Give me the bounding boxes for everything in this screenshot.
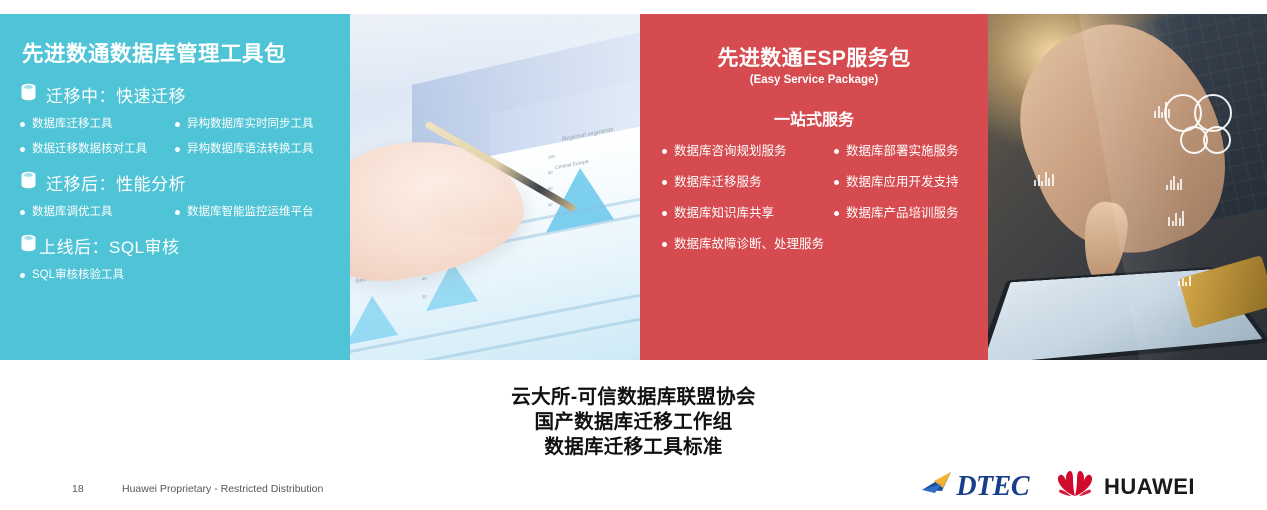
dtec-wordmark: DTEC [956, 471, 1029, 503]
esp-panel-kicker: 一站式服务 [654, 106, 974, 130]
esp-panel-title: 先进数通ESP服务包 [654, 42, 974, 72]
list-item: 数据库迁移工具 [20, 117, 175, 131]
list-item-label: 数据库咨询规划服务 [674, 144, 787, 158]
photo-hud-barchart [1168, 206, 1184, 226]
list-item: 数据库部署实施服务 [834, 144, 974, 158]
bullet-dot [834, 149, 839, 154]
list-item-label: 数据库智能监控运维平台 [187, 205, 314, 219]
toolkit-list-migrating: 数据库迁移工具 异构数据库实时同步工具 数据迁移数据核对工具 异构数据库语法转换… [20, 117, 340, 156]
list-item: 数据库迁移服务 [662, 175, 834, 189]
bullet-dot [175, 147, 180, 152]
list-item: 数据库调优工具 [20, 205, 175, 219]
list-item: 异构数据库语法转换工具 [175, 142, 340, 156]
banner-strip: 先进数通数据库管理工具包 迁移中：快速迁移 数据库迁移工具 异构数据库实时同步工… [0, 14, 1267, 360]
section-heading-migrating-label: 迁移中：快速迁移 [46, 82, 186, 107]
toolkit-panel: 先进数通数据库管理工具包 迁移中：快速迁移 数据库迁移工具 异构数据库实时同步工… [0, 14, 350, 360]
dtec-logo: DTEC [921, 471, 1029, 503]
toolkit-list-after-golive: SQL审核核验工具 [20, 268, 340, 282]
list-item: 数据库智能监控运维平台 [175, 205, 340, 219]
bullet-dot [662, 149, 667, 154]
huawei-logo: HUAWEI [1055, 470, 1195, 503]
list-item: 异构数据库实时同步工具 [175, 117, 340, 131]
list-item-label: 数据库应用开发支持 [846, 175, 959, 189]
photo-hand-writing-charts: Regional segments Central Europe East Eu… [350, 14, 640, 360]
confidentiality-note: Huawei Proprietary - Restricted Distribu… [122, 483, 323, 495]
section-heading-after-migration: 迁移后：性能分析 [20, 170, 340, 195]
toolkit-list-after-migration: 数据库调优工具 数据库智能监控运维平台 [20, 205, 340, 219]
section-heading-after-migration-label: 迁移后：性能分析 [46, 170, 186, 195]
list-item-label: 数据库部署实施服务 [846, 144, 959, 158]
dtec-mark-icon [921, 471, 955, 502]
list-item-label: 异构数据库实时同步工具 [187, 117, 314, 131]
bullet-dot [662, 242, 667, 247]
database-icon [20, 83, 37, 107]
caption-line-1: 云大所-可信数据库联盟协会 [0, 385, 1267, 410]
photo-axis-tick: 20 [422, 294, 426, 300]
list-item: 数据库故障诊断、处理服务 [662, 237, 974, 251]
database-icon [20, 171, 37, 195]
list-item: SQL审核核验工具 [20, 268, 340, 282]
bullet-dot [20, 210, 25, 215]
list-item-label: 数据库迁移服务 [674, 175, 762, 189]
bullet-dot [662, 180, 667, 185]
bullet-dot [175, 122, 180, 127]
esp-panel: 先进数通ESP服务包 (Easy Service Package) 一站式服务 … [640, 14, 988, 360]
list-item: 数据库应用开发支持 [834, 175, 974, 189]
list-item-label: 数据库迁移工具 [32, 117, 113, 131]
list-item-label: 数据库调优工具 [32, 205, 113, 219]
huawei-flower-icon [1055, 470, 1095, 503]
footer-logos: DTEC HUAWEI [921, 470, 1195, 503]
photo-credit-card [1178, 255, 1267, 329]
photo-hud-barchart [1034, 166, 1054, 186]
photo-hud-barchart [1178, 266, 1191, 286]
slide-caption: 云大所-可信数据库联盟协会 国产数据库迁移工作组 数据库迁移工具标准 [0, 385, 1267, 460]
bullet-dot [20, 147, 25, 152]
bullet-dot [834, 211, 839, 216]
list-item-label: 异构数据库语法转换工具 [187, 142, 314, 156]
bullet-dot [175, 210, 180, 215]
caption-line-2: 国产数据库迁移工作组 [0, 410, 1267, 435]
list-item: 数据库产品培训服务 [834, 206, 974, 220]
photo-axis-tick: 60 [422, 276, 426, 282]
photo-hud-barchart [1154, 98, 1170, 118]
esp-panel-subtitle: (Easy Service Package) [654, 74, 974, 86]
list-item-label: 数据库故障诊断、处理服务 [674, 237, 824, 251]
toolkit-panel-title: 先进数通数据库管理工具包 [22, 37, 340, 68]
photo-finger-tablet [988, 14, 1267, 360]
section-heading-after-golive: 上线后：SQL审核 [20, 233, 340, 258]
page-number: 18 [72, 483, 84, 495]
list-item-label: 数据库知识库共享 [674, 206, 774, 220]
list-item-label: 数据迁移数据核对工具 [32, 142, 147, 156]
bullet-dot [20, 122, 25, 127]
caption-line-3: 数据库迁移工具标准 [0, 435, 1267, 460]
section-heading-migrating: 迁移中：快速迁移 [20, 82, 340, 107]
bullet-dot [20, 273, 25, 278]
photo-axis-tick: 40 [548, 202, 552, 208]
database-icon [20, 234, 37, 258]
photo-hud-barchart [1166, 170, 1182, 190]
list-item-label: 数据库产品培训服务 [846, 206, 959, 220]
list-item: 数据库咨询规划服务 [662, 144, 834, 158]
list-item-label: SQL审核核验工具 [32, 268, 124, 282]
section-heading-after-golive-label: 上线后：SQL审核 [39, 233, 180, 258]
esp-service-list: 数据库咨询规划服务 数据库部署实施服务 数据库迁移服务 数据库应用开发支持 数据… [662, 144, 974, 251]
list-item: 数据库知识库共享 [662, 206, 834, 220]
huawei-wordmark: HUAWEI [1104, 474, 1195, 500]
list-item: 数据迁移数据核对工具 [20, 142, 175, 156]
photo-axis-tick: 80 [548, 170, 552, 176]
bullet-dot [834, 180, 839, 185]
bullet-dot [662, 211, 667, 216]
photo-hud-ring [1203, 126, 1231, 154]
